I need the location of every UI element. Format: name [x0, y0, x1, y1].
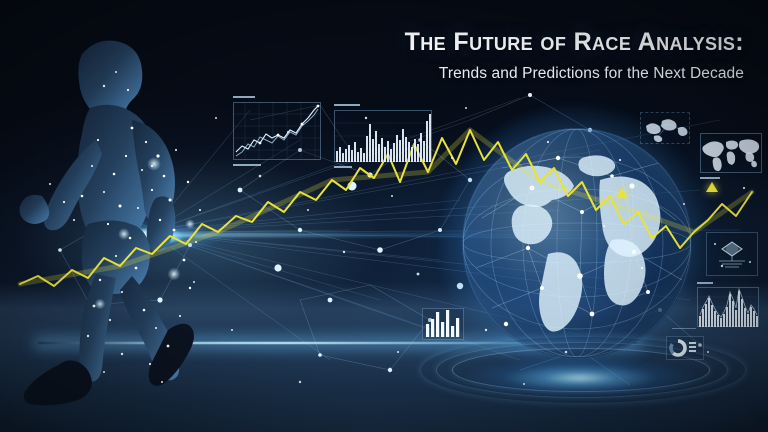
cube-hologram-panel[interactable]	[706, 232, 758, 276]
trend-marker-triangle	[616, 188, 628, 198]
network-map-glyph	[640, 112, 690, 144]
panel-cap-top	[697, 282, 713, 284]
bar-line-plot	[697, 287, 759, 327]
donut-chart-glyph	[666, 336, 704, 360]
panel-cap-bottom	[700, 177, 720, 179]
title-block: The Future of Race Analysis: Trends and …	[324, 28, 744, 83]
right-bar-line-panel[interactable]	[697, 287, 759, 327]
trend-marker-triangle-2	[706, 182, 718, 192]
panel-cap-top	[672, 328, 696, 329]
donut-panel[interactable]	[666, 336, 704, 360]
panel-cap-bottom	[334, 166, 352, 168]
histogram-panel[interactable]	[334, 110, 432, 162]
panel-cap-top	[334, 104, 360, 106]
histogram-plot	[334, 110, 432, 162]
bar-icon-plot	[422, 308, 464, 340]
page-subtitle: Trends and Predictions for the Next Deca…	[324, 65, 744, 83]
page-title: The Future of Race Analysis:	[324, 28, 744, 56]
line-chart-plot	[233, 102, 321, 160]
world-map-panel[interactable]	[700, 133, 762, 173]
small-bar-icon[interactable]	[422, 308, 464, 340]
line-chart-panel[interactable]	[233, 102, 321, 160]
panel-cap-bottom	[233, 164, 261, 166]
panel-cap-top	[233, 96, 255, 98]
network-map-icon[interactable]	[640, 112, 690, 144]
banner-canvas: The Future of Race Analysis: Trends and …	[0, 0, 768, 432]
world-map-glyph	[700, 133, 762, 173]
cube-icon	[706, 232, 758, 276]
